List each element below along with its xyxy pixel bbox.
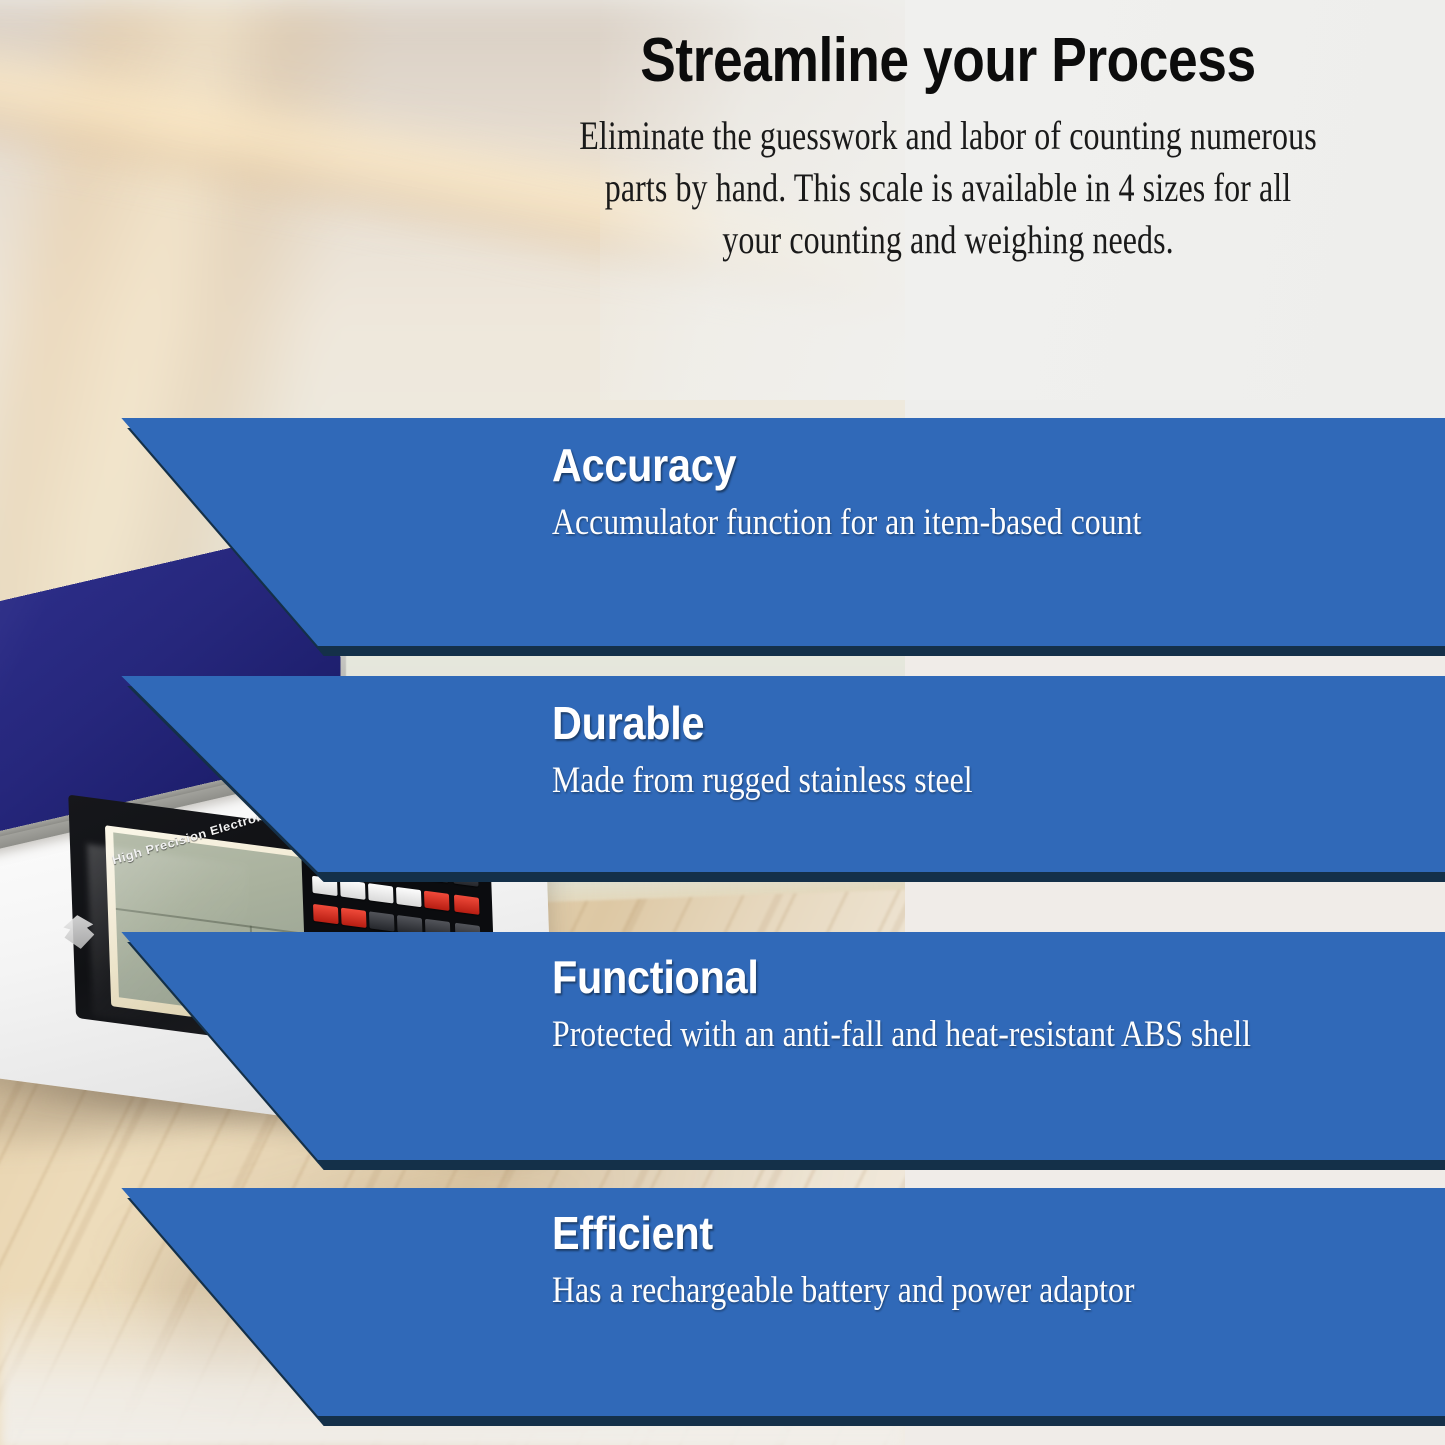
key-dot[interactable]	[368, 883, 394, 903]
page-title: Streamline your Process	[544, 28, 1352, 94]
key-red-b[interactable]	[424, 891, 450, 911]
banner-content: Functional Protected with an anti-fall a…	[552, 954, 1405, 1059]
feature-heading: Efficient	[552, 1210, 1320, 1256]
key-func-d[interactable]	[369, 911, 395, 931]
banner-content: Efficient Has a rechargeable battery and…	[552, 1210, 1405, 1315]
key-0[interactable]	[340, 879, 366, 899]
feature-heading: Functional	[552, 954, 1320, 1000]
key-red-d[interactable]	[313, 904, 339, 924]
infographic-canvas: kg d=1g Date 2018-11 High Precision Elec…	[0, 0, 1445, 1445]
feature-heading: Durable	[552, 700, 1320, 746]
header-block: Streamline your Process Eliminate the gu…	[478, 28, 1418, 266]
feature-body: Made from rugged stainless steel	[552, 758, 1286, 805]
feature-banner-durable[interactable]: Durable Made from rugged stainless steel	[0, 676, 1445, 872]
key-clear[interactable]	[396, 887, 422, 907]
banner-content: Durable Made from rugged stainless steel	[552, 700, 1405, 805]
feature-body: Protected with an anti-fall and heat-res…	[552, 1012, 1286, 1059]
banner-content: Accuracy Accumulator function for an ite…	[552, 442, 1405, 547]
feature-banner-functional[interactable]: Functional Protected with an anti-fall a…	[0, 932, 1445, 1160]
feature-banner-efficient[interactable]: Efficient Has a rechargeable battery and…	[0, 1188, 1445, 1416]
feature-body: Accumulator function for an item-based c…	[552, 500, 1286, 547]
page-subtitle: Eliminate the guesswork and labor of cou…	[572, 110, 1324, 266]
feature-heading: Accuracy	[552, 442, 1320, 488]
key-red-c[interactable]	[454, 895, 480, 915]
feature-banner-accuracy[interactable]: Accuracy Accumulator function for an ite…	[0, 418, 1445, 646]
feature-body: Has a rechargeable battery and power ada…	[552, 1268, 1286, 1315]
key-red-e[interactable]	[341, 908, 367, 928]
